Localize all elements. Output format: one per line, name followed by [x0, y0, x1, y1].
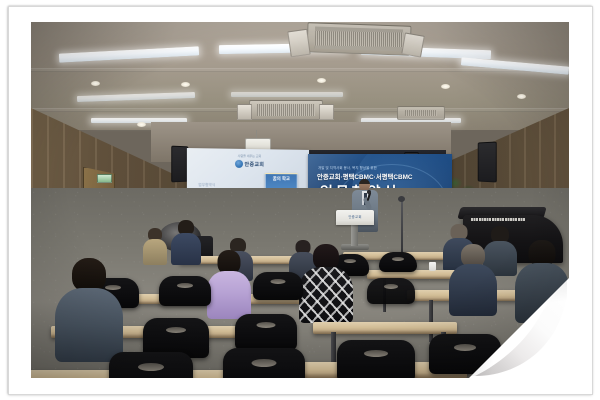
- banner-eyebrow: 개발 및 지역사회 봉사, 복지 향상을 위한: [318, 165, 377, 170]
- person-body: [299, 267, 353, 323]
- chair: [367, 278, 415, 304]
- audience-person: [171, 220, 201, 264]
- ceiling-light-panel: [231, 92, 343, 97]
- audience-person-purple: [207, 250, 251, 316]
- ceiling-ac-unit: [397, 106, 445, 120]
- exit-sign: [97, 174, 112, 183]
- chair: [235, 314, 297, 350]
- chair-handle-slot: [364, 350, 388, 357]
- chair-handle-slot: [271, 279, 286, 284]
- chair-handle-slot: [138, 363, 164, 371]
- downlight: [181, 82, 190, 87]
- ac-grille: [315, 26, 404, 51]
- microphone-head: [367, 190, 371, 194]
- chair-handle-slot: [454, 344, 476, 351]
- ceiling: [31, 22, 569, 130]
- ac-vane: [287, 29, 310, 58]
- ac-grille: [257, 104, 315, 116]
- downlight: [441, 84, 450, 89]
- microphone-stand: [401, 200, 403, 260]
- chair-handle-slot: [177, 283, 193, 288]
- chair: [159, 276, 211, 306]
- person-body: [171, 233, 201, 265]
- slide-logo-superscript: 사람을 세우는 교회: [238, 154, 262, 158]
- chair: [379, 252, 417, 272]
- slide-logo: 안중교회: [235, 160, 265, 168]
- audience-person: [143, 228, 167, 262]
- paper-cup: [429, 262, 436, 271]
- audience-person-foreground: [55, 258, 123, 358]
- microphone-stand-head: [398, 196, 405, 202]
- screenshot-root: 사람을 세우는 교회 안중교회 업무협약식 국립대학교 학과 소개 사회복지학과…: [0, 0, 600, 400]
- chair: [253, 272, 303, 300]
- slide-eyebrow: 업무협약식: [198, 182, 215, 187]
- chair-handle-slot: [252, 359, 277, 367]
- slide-logo-text: 안중교회: [245, 160, 265, 167]
- desk-leg: [429, 300, 433, 342]
- podium: 안중교회: [336, 210, 374, 225]
- church-logo-icon: [235, 160, 243, 168]
- ac-vane: [237, 104, 252, 120]
- ac-vane: [319, 104, 334, 120]
- slide-book-title: 꿈의 학교: [266, 176, 297, 182]
- audience-person-patterned: [299, 244, 353, 320]
- ceiling-ac-unit: [307, 22, 412, 56]
- wall-speaker-icon: [171, 146, 188, 183]
- person-head: [72, 258, 106, 292]
- chair-handle-slot: [257, 322, 276, 328]
- downlight: [317, 78, 326, 83]
- person-body: [55, 288, 123, 362]
- wall-speaker-icon: [478, 141, 497, 182]
- ceiling-ac-unit: [249, 100, 323, 120]
- downlight: [91, 81, 100, 86]
- chair-handle-slot: [392, 257, 404, 261]
- ceiling-beam: [31, 68, 569, 72]
- downlight: [517, 94, 526, 99]
- audience-person: [449, 244, 497, 314]
- person-body: [449, 264, 497, 316]
- chair-handle-slot: [384, 284, 398, 289]
- chair: [223, 348, 305, 378]
- chair-handle-slot: [166, 327, 186, 333]
- chair: [109, 352, 193, 378]
- downlight: [137, 122, 146, 127]
- person-body: [207, 271, 251, 319]
- chair: [337, 340, 415, 378]
- ac-vane: [401, 32, 425, 57]
- podium-column: [351, 224, 358, 246]
- photo-content: 사람을 세우는 교회 안중교회 업무협약식 국립대학교 학과 소개 사회복지학과…: [31, 22, 569, 378]
- ac-grille: [405, 110, 437, 116]
- person-body: [143, 239, 167, 265]
- podium-logo-text: 안중교회: [348, 214, 361, 219]
- piano-keys: [471, 218, 525, 221]
- seminar-room-photo: 사람을 세우는 교회 안중교회 업무협약식 국립대학교 학과 소개 사회복지학과…: [31, 22, 569, 378]
